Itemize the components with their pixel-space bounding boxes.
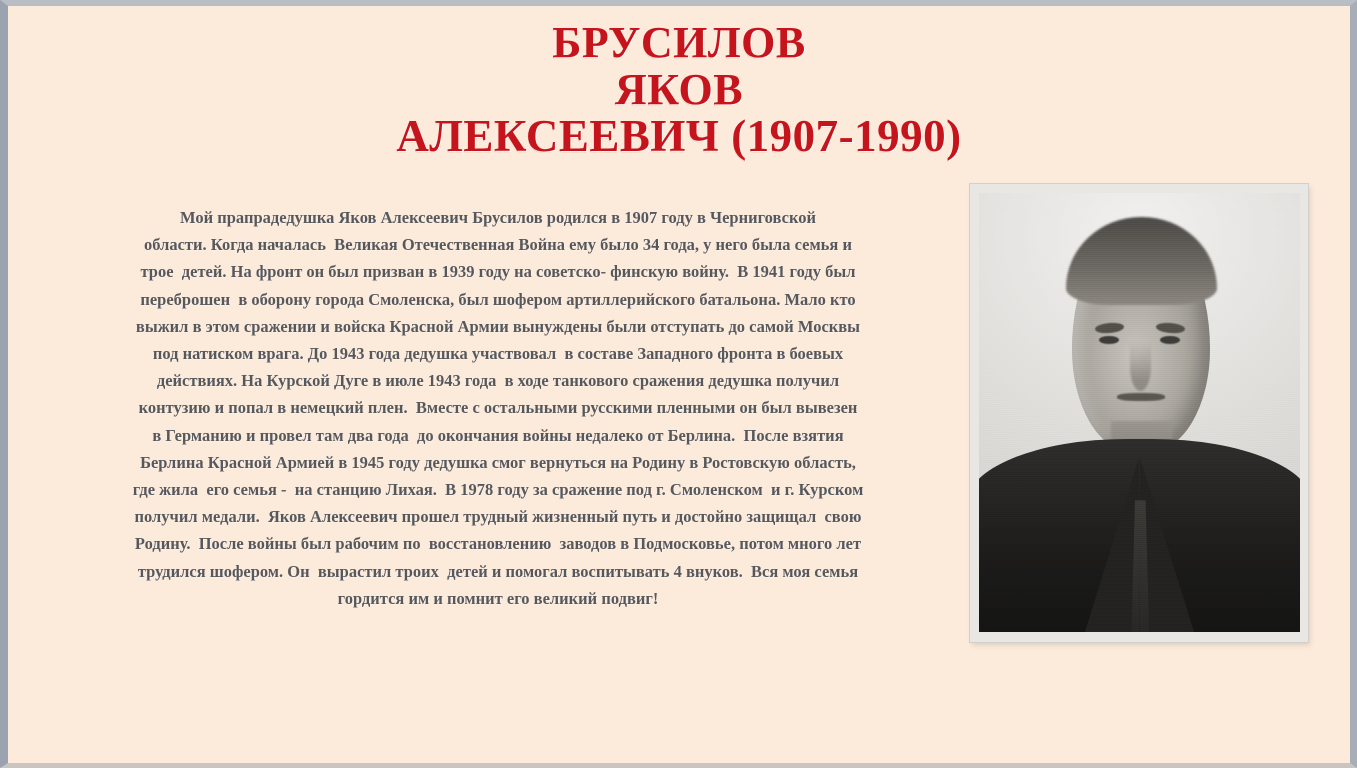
body-line: получил медали. Яков Алексеевич прошел т… [38,503,958,530]
body-line: трудился шофером. Он вырастил троих дете… [38,558,958,585]
body-line: выжил в этом сражении и войска Красной А… [38,313,958,340]
body-line: под натиском врага. До 1943 года дедушка… [38,340,958,367]
portrait-photo-frame [970,184,1308,642]
portrait-photo [979,193,1300,632]
biography-text: Мой прапрадедушка Яков Алексеевич Брусил… [38,204,958,612]
body-line: где жила его семья - на станцию Лихая. В… [38,476,958,503]
title-line-patronymic-years: АЛЕКСЕЕВИЧ (1907-1990) [8,113,1350,161]
title-line-surname: БРУСИЛОВ [8,20,1350,67]
body-line: Родину. После войны был рабочим по восст… [38,530,958,557]
body-line: контузию и попал в немецкий плен. Вместе… [38,394,958,421]
photo-eye-right [1160,336,1179,344]
body-line: гордится им и помнит его великий подвиг! [38,585,958,612]
body-line: Мой прапрадедушка Яков Алексеевич Брусил… [38,204,958,231]
body-line: трое детей. На фронт он был призван в 19… [38,258,958,285]
page-title: БРУСИЛОВ ЯКОВ АЛЕКСЕЕВИЧ (1907-1990) [8,20,1350,161]
photo-eye-left [1099,336,1118,344]
body-line: действиях. На Курской Дуге в июле 1943 г… [38,367,958,394]
body-line: переброшен в оборону города Смоленска, б… [38,286,958,313]
photo-nose [1130,342,1151,390]
body-line: области. Когда началась Великая Отечеств… [38,231,958,258]
slide-canvas: БРУСИЛОВ ЯКОВ АЛЕКСЕЕВИЧ (1907-1990) Мой… [0,0,1357,768]
title-line-firstname: ЯКОВ [8,67,1350,114]
photo-mouth [1117,393,1165,401]
body-line: в Германию и провел там два года до окон… [38,422,958,449]
body-line: Берлина Красной Армией в 1945 году дедуш… [38,449,958,476]
